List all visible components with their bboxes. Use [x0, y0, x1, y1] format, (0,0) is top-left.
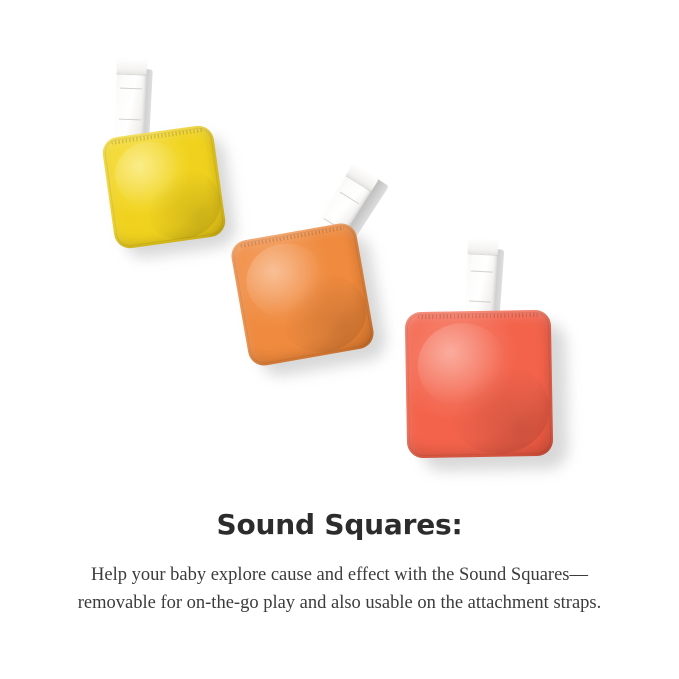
orange-cushion-fabric: [229, 221, 376, 368]
yellow-strap-seam-lower: [118, 119, 141, 121]
coral-strap-seam-upper: [470, 270, 493, 272]
product-description: Help your baby explore cause and effect …: [0, 561, 679, 617]
coral-cushion-fabric: [405, 310, 554, 459]
yellow-cushion-fabric: [101, 124, 227, 250]
yellow-strap-fold: [116, 59, 147, 75]
yellow-cushion[interactable]: [101, 124, 227, 250]
orange-cushion[interactable]: [229, 221, 376, 368]
description-line-1: Help your baby explore cause and effect …: [0, 561, 679, 589]
product-photo: [0, 0, 679, 495]
coral-strap-seam-lower: [469, 301, 492, 303]
product-caption: Sound Squares: Help your baby explore ca…: [0, 505, 679, 617]
page-title: Sound Squares:: [0, 505, 679, 545]
description-line-2: removable for on-the-go play and also us…: [0, 589, 679, 617]
yellow-strap-seam-upper: [120, 88, 143, 90]
coral-cushion[interactable]: [405, 310, 554, 459]
coral-cushion-edge: [407, 312, 551, 456]
yellow-cushion-edge: [103, 126, 225, 248]
orange-strap-seam-upper: [340, 191, 360, 204]
product-card: Sound Squares: Help your baby explore ca…: [0, 0, 679, 679]
coral-strap-fold: [468, 238, 499, 255]
